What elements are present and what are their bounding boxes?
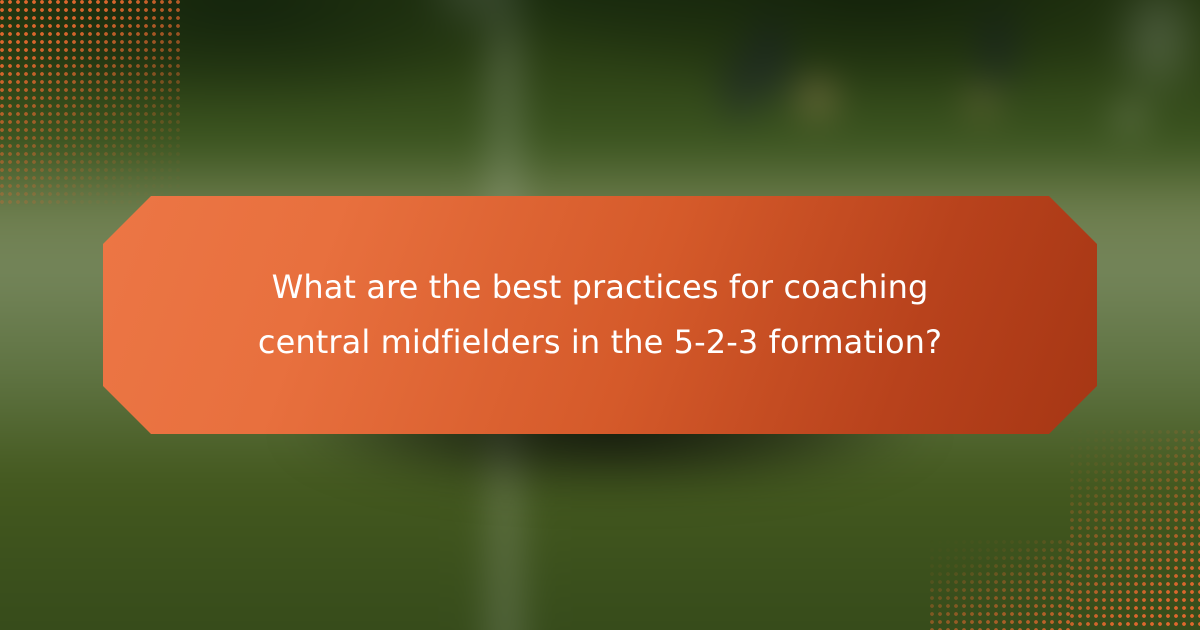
question-text: What are the best practices for coaching… [220,260,980,370]
question-card: What are the best practices for coaching… [103,196,1097,434]
question-card-graphic: What are the best practices for coaching… [0,0,1200,630]
